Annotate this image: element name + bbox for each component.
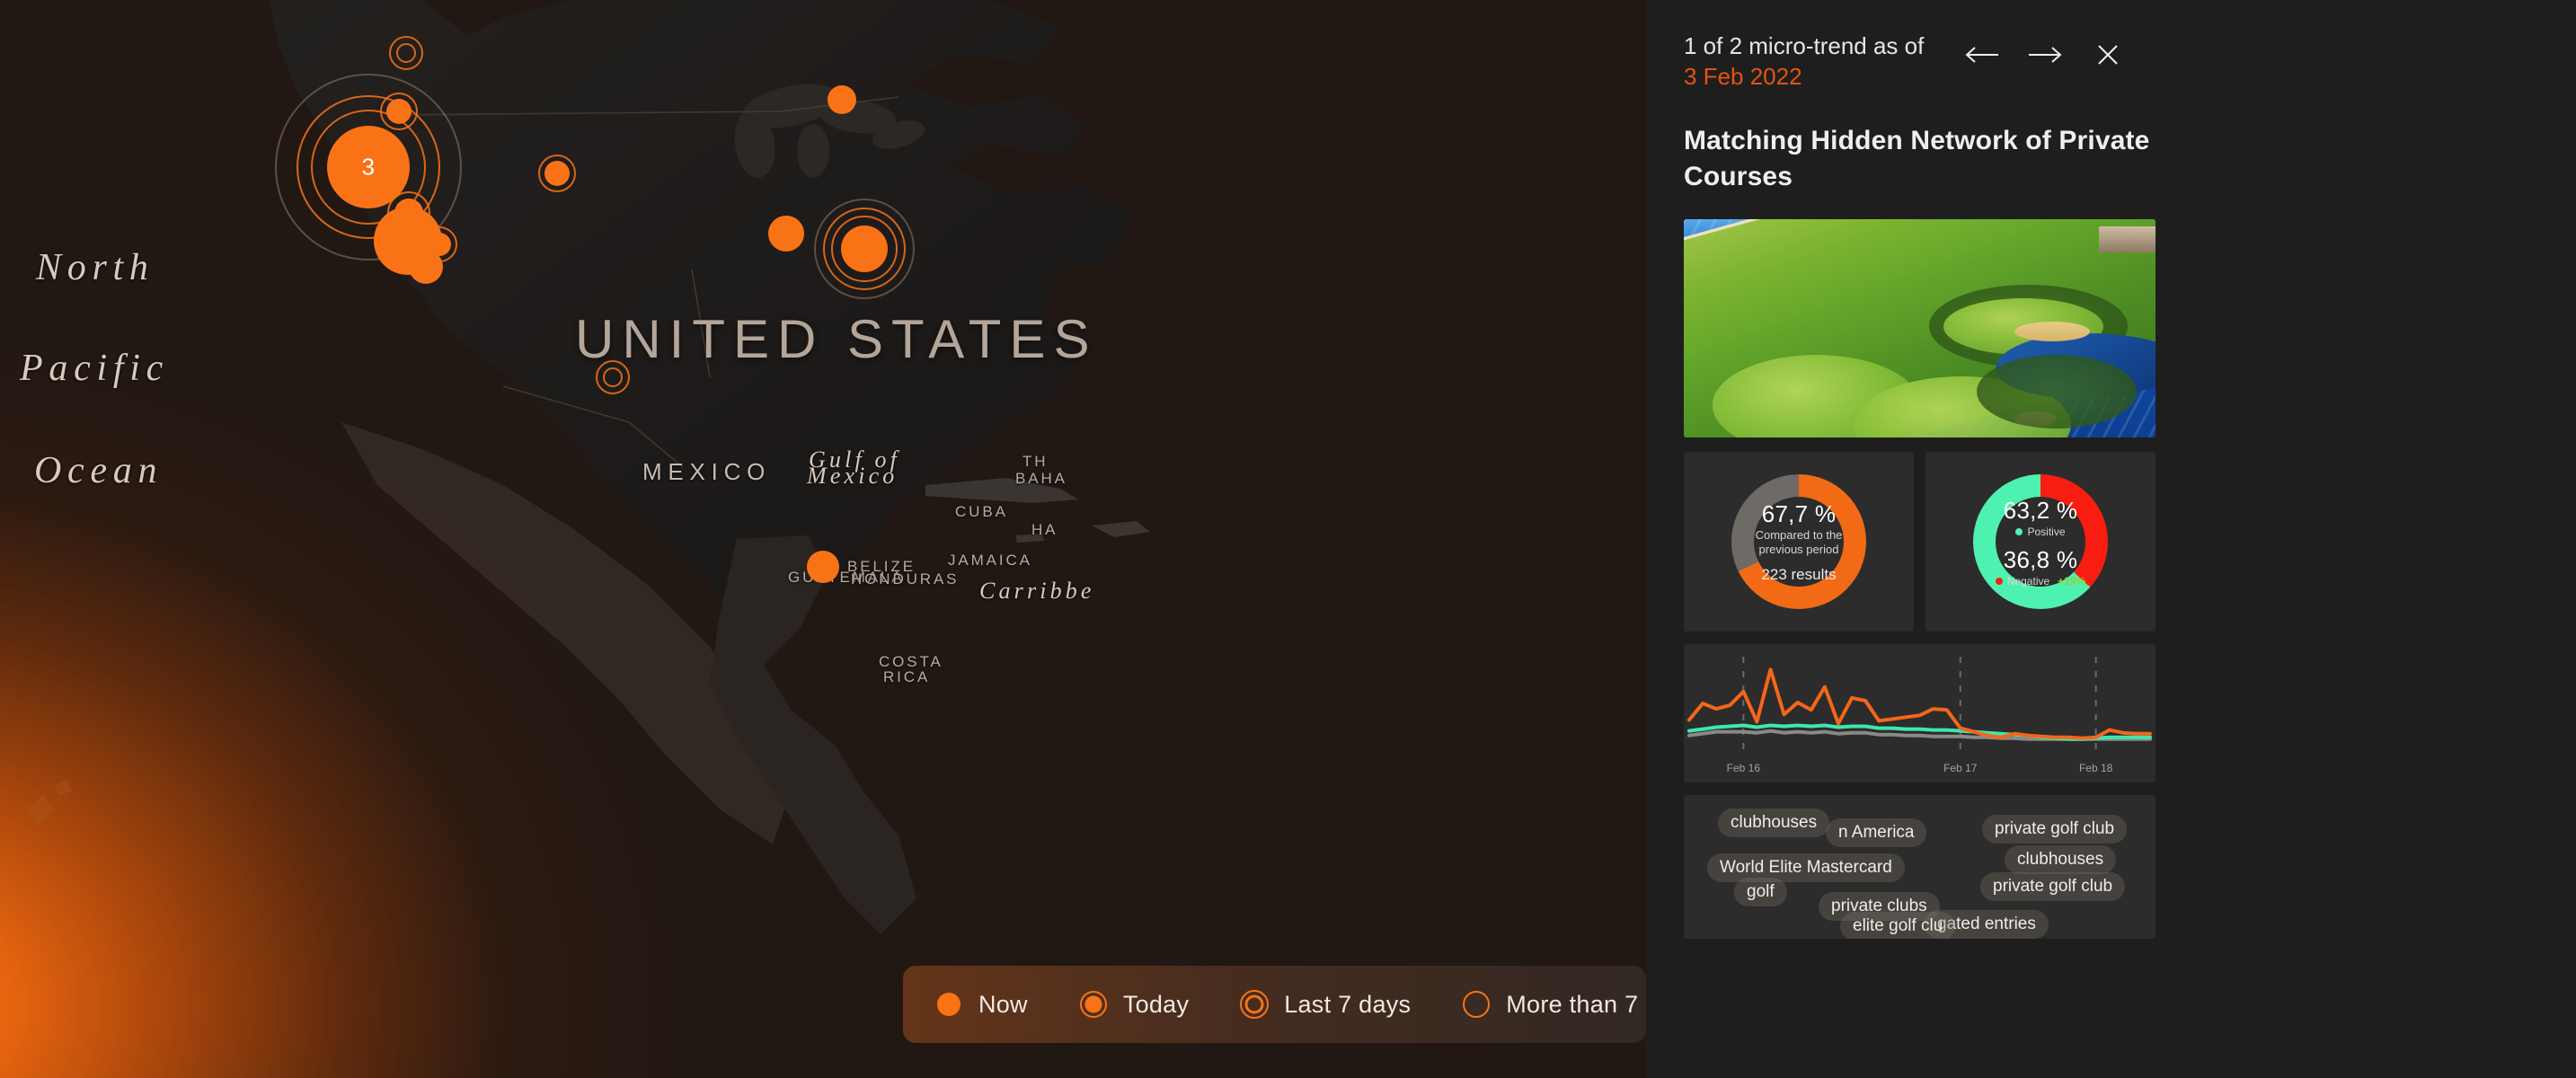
next-arrow-icon[interactable] bbox=[2026, 36, 2064, 74]
tag-private-golf-club-2[interactable]: private golf club bbox=[1980, 872, 2125, 901]
legend-more-than-7-days-icon bbox=[1461, 989, 1492, 1020]
sentiment-donut: 63,2 % Positive 36,8 % Negative +19% bbox=[1973, 474, 2108, 609]
sentiment-delta: +19% bbox=[2058, 575, 2085, 588]
marker-dot bbox=[768, 216, 804, 252]
map-marker-midwest[interactable] bbox=[535, 151, 580, 196]
legend-now[interactable]: Now bbox=[934, 989, 1028, 1020]
metrics-row: 67,7 % Compared to the previous period 2… bbox=[1684, 452, 2538, 632]
panel-header: 1 of 2 micro-trend as of 3 Feb 2022 bbox=[1684, 31, 2538, 93]
legend-more-than-7-days-label: More than 7 days ago bbox=[1506, 991, 1646, 1019]
marker-dot bbox=[841, 225, 888, 272]
panel-counter-text: 1 of 2 micro-trend as of bbox=[1684, 32, 1924, 59]
map-marker-alberta[interactable] bbox=[385, 32, 427, 74]
legend-now-icon bbox=[934, 989, 964, 1020]
map-marker-southeast[interactable] bbox=[765, 212, 808, 255]
hero-image bbox=[1684, 219, 2156, 437]
panel-counter: 1 of 2 micro-trend as of 3 Feb 2022 bbox=[1684, 31, 1924, 93]
negative-key: Negative +19% bbox=[1996, 575, 2085, 588]
panel-title: Matching Hidden Network of Private Cours… bbox=[1684, 123, 2187, 197]
legend-now-label: Now bbox=[978, 991, 1028, 1019]
comparison-caption: Compared to the previous period bbox=[1756, 528, 1843, 558]
time-filter-legend[interactable]: NowTodayLast 7 daysMore than 7 days ago bbox=[903, 966, 1646, 1043]
map-marker-panama[interactable] bbox=[803, 547, 843, 587]
positive-key: Positive bbox=[2015, 526, 2065, 538]
tag-elite-golf-club[interactable]: elite golf clu bbox=[1840, 912, 1955, 939]
legend-today-label: Today bbox=[1123, 991, 1189, 1019]
positive-percent: 63,2 % bbox=[2004, 497, 2078, 525]
tag-clubhouses-2[interactable]: clubhouses bbox=[2005, 845, 2116, 874]
x-tick-label: Feb 17 bbox=[1943, 762, 1977, 774]
positive-label: Positive bbox=[2027, 526, 2065, 538]
map-marker-socal[interactable] bbox=[405, 246, 447, 287]
comparison-card: 67,7 % Compared to the previous period 2… bbox=[1684, 452, 1914, 632]
map-marker-eastcoast[interactable] bbox=[810, 195, 918, 303]
trend-line-chart[interactable]: Feb 16Feb 17Feb 18 bbox=[1684, 644, 2156, 782]
positive-swatch bbox=[2015, 528, 2023, 535]
keyword-tag-cloud[interactable]: clubhousesn Americaprivate golf clubclub… bbox=[1684, 795, 2156, 939]
comparison-percent: 67,7 % bbox=[1762, 500, 1837, 528]
micro-trend-panel: 1 of 2 micro-trend as of 3 Feb 2022 bbox=[1646, 0, 2576, 1078]
map-landmass bbox=[0, 0, 1646, 1078]
sentiment-card: 63,2 % Positive 36,8 % Negative +19% bbox=[1925, 452, 2156, 632]
legend-last-7-days[interactable]: Last 7 days bbox=[1239, 989, 1411, 1020]
close-icon[interactable] bbox=[2089, 36, 2127, 74]
map-canvas[interactable]: UNITED STATESNorthPacificOceanMEXICOGulf… bbox=[0, 0, 1646, 1078]
tag-golf[interactable]: golf bbox=[1734, 878, 1787, 906]
marker-dot bbox=[828, 85, 856, 114]
tag-private-golf-club-1[interactable]: private golf club bbox=[1982, 815, 2127, 844]
marker-count-label: 3 bbox=[362, 154, 376, 181]
panel-nav[interactable] bbox=[1963, 36, 2127, 74]
resort-building bbox=[2099, 226, 2156, 252]
legend-last-7-days-label: Last 7 days bbox=[1284, 991, 1411, 1019]
legend-more-than-7-days[interactable]: More than 7 days ago bbox=[1461, 989, 1646, 1020]
x-tick-label: Feb 18 bbox=[2079, 762, 2112, 774]
negative-label: Negative bbox=[2007, 575, 2049, 588]
legend-today[interactable]: Today bbox=[1078, 989, 1189, 1020]
map-marker-vancouver[interactable] bbox=[376, 89, 421, 134]
negative-percent: 36,8 % bbox=[2004, 546, 2078, 574]
negative-swatch bbox=[1996, 578, 2003, 585]
marker-dot bbox=[409, 250, 443, 284]
tag-n-america[interactable]: n America bbox=[1826, 818, 1926, 847]
marker-ring bbox=[389, 36, 423, 70]
panel-date: 3 Feb 2022 bbox=[1684, 63, 1802, 90]
comparison-results: 223 results bbox=[1761, 566, 1836, 584]
marker-dot bbox=[807, 551, 839, 583]
tree-line bbox=[1977, 355, 2138, 429]
map-marker-gulfcoast[interactable] bbox=[592, 357, 633, 398]
map-marker-greatlakes[interactable] bbox=[824, 82, 860, 118]
x-tick-label: Feb 16 bbox=[1727, 762, 1760, 774]
tag-clubhouses-1[interactable]: clubhouses bbox=[1718, 808, 1829, 837]
marker-ring bbox=[596, 360, 630, 394]
tag-world-elite-mastercard[interactable]: World Elite Mastercard bbox=[1707, 853, 1905, 882]
marker-dot bbox=[386, 99, 412, 124]
app-root: UNITED STATESNorthPacificOceanMEXICOGulf… bbox=[0, 0, 2576, 1078]
legend-today-icon bbox=[1078, 989, 1109, 1020]
legend-last-7-days-icon bbox=[1239, 989, 1270, 1020]
prev-arrow-icon[interactable] bbox=[1963, 36, 2001, 74]
comparison-donut: 67,7 % Compared to the previous period 2… bbox=[1731, 474, 1866, 609]
marker-dot bbox=[544, 161, 570, 186]
